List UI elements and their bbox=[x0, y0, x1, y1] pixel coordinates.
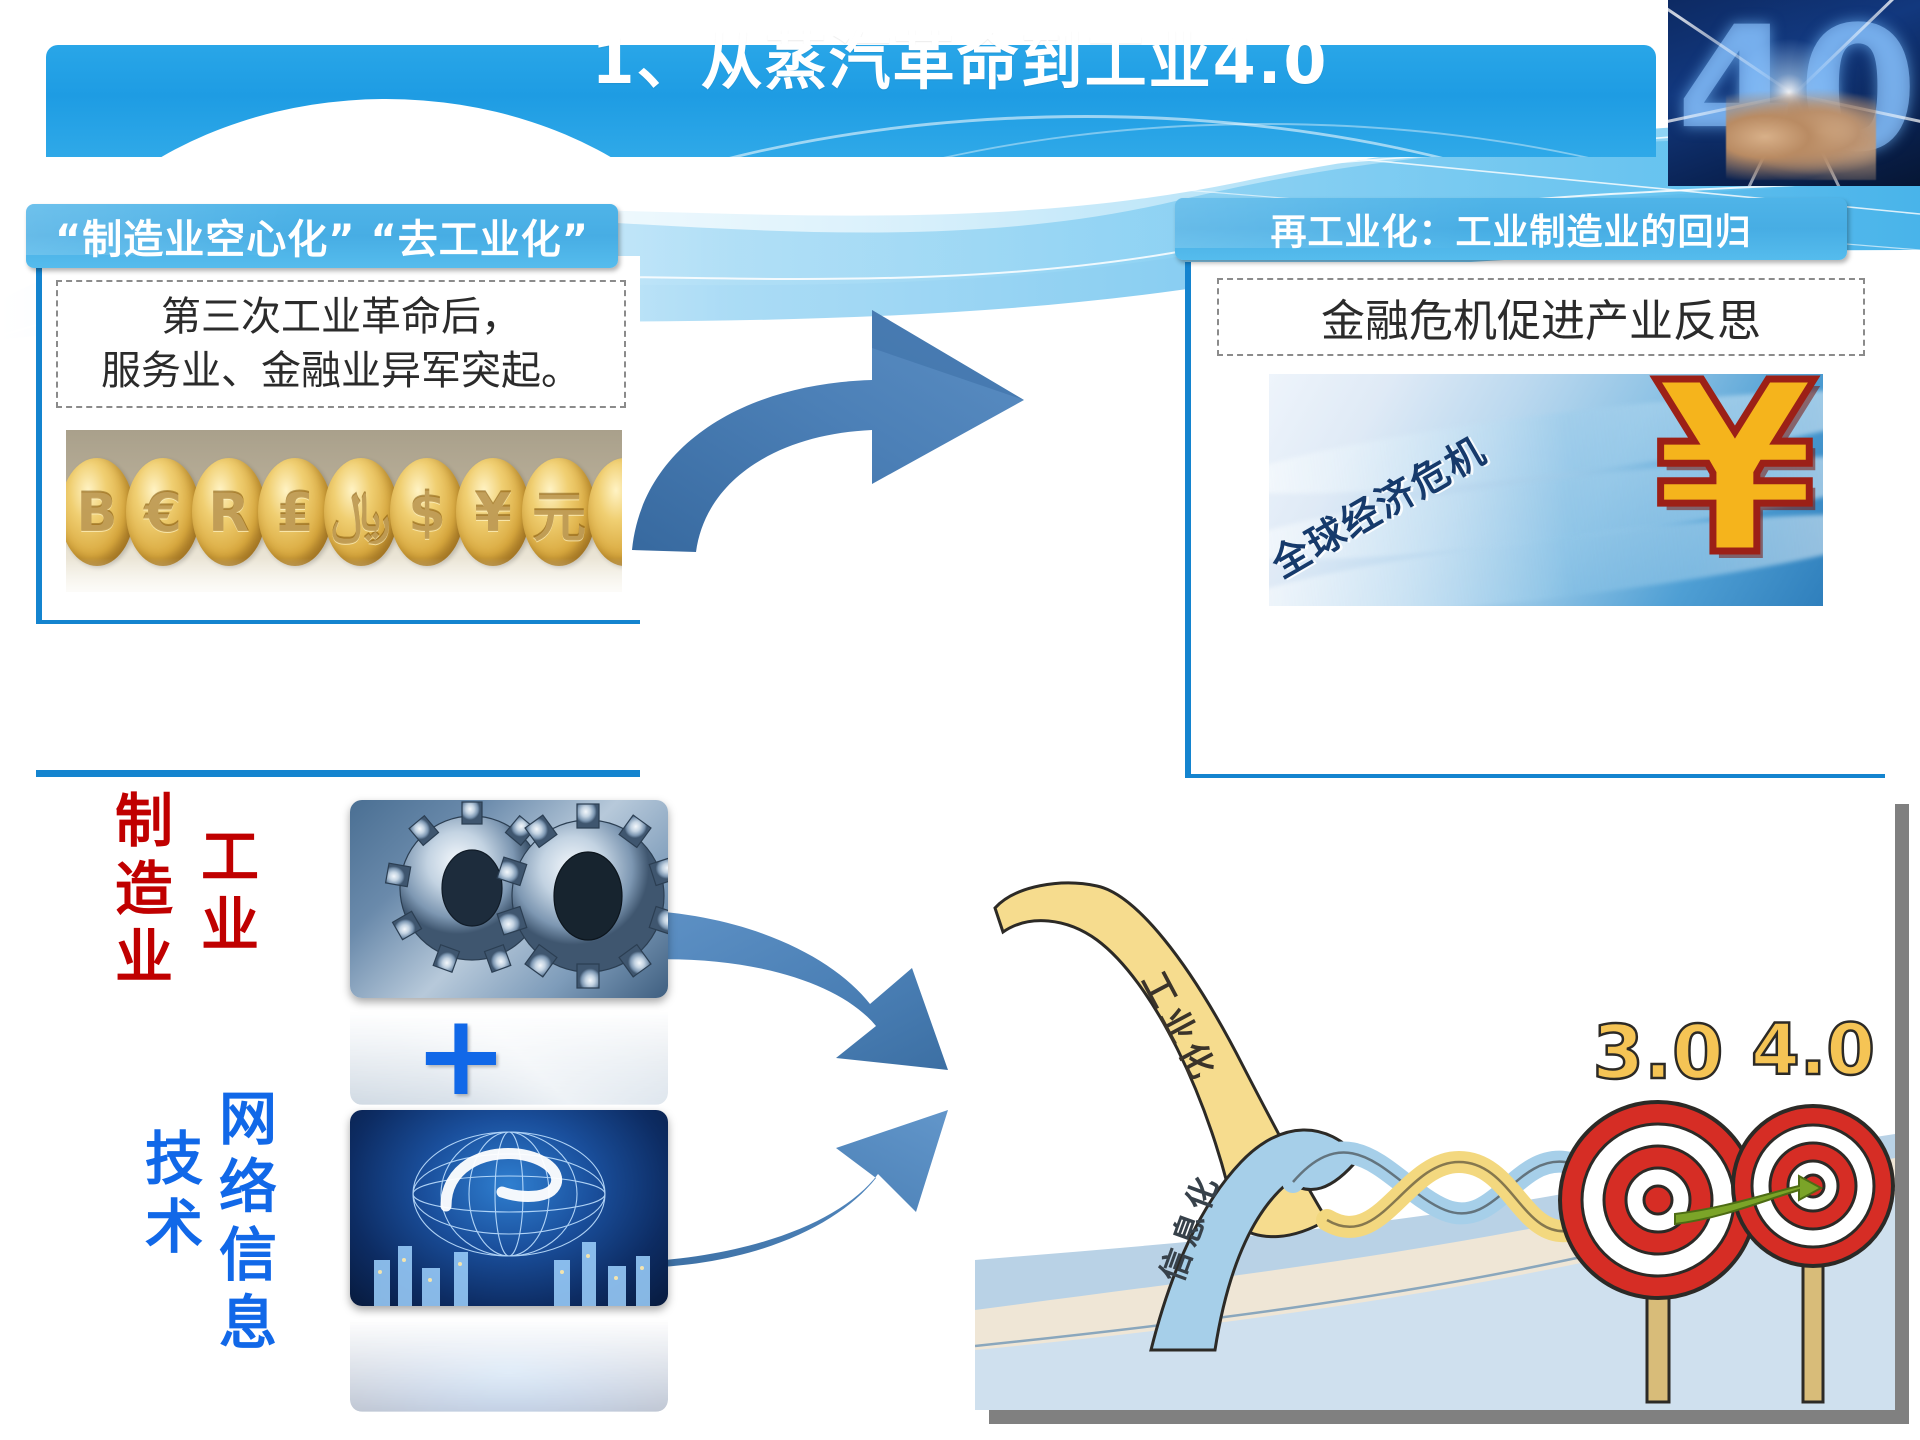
coin-5: ﷼ bbox=[324, 458, 398, 566]
label-technology: 技术 bbox=[140, 1128, 198, 1264]
right-panel-description-box: 金融危机促进产业反思 bbox=[1217, 278, 1865, 356]
right-description-label: 金融危机促进产业反思 bbox=[1321, 285, 1761, 349]
plus-sign: + bbox=[414, 1000, 508, 1112]
slide-canvas: 1、从蒸汽革命到工业4.0 4 0 “制造业空心化” “去工业化” 第三次工业革… bbox=[0, 0, 1920, 1440]
page-title: 1、从蒸汽革命到工业4.0 bbox=[0, 0, 1920, 112]
yen-symbol-icon: ¥ bbox=[1653, 378, 1817, 562]
gold-coins-image: B € R ₤ ﷼ $ ¥ 元 bbox=[66, 430, 622, 592]
gears-image-reflection bbox=[350, 998, 668, 1105]
svg-text:4.0: 4.0 bbox=[1751, 1009, 1875, 1091]
arrow-network-to-cartoon-icon bbox=[630, 1090, 990, 1280]
label-manufacturing: 制造业 bbox=[110, 790, 168, 994]
arrow-gears-to-cartoon-icon bbox=[630, 900, 990, 1080]
right-panel-header-label: 再工业化：工业制造业的回归 bbox=[1270, 203, 1751, 255]
coins-table-glare bbox=[66, 558, 622, 592]
left-panel-description-box: 第三次工业革命后， 服务业、金融业异军突起。 bbox=[56, 280, 626, 408]
industry-evolution-cartoon: 工业化 信息化 3.0 bbox=[975, 790, 1895, 1410]
coin-4: ₤ bbox=[258, 458, 332, 566]
label-industry: 工业 bbox=[196, 826, 254, 962]
coin-3: R bbox=[192, 458, 266, 566]
gears-photo bbox=[350, 800, 668, 998]
right-panel-header: 再工业化：工业制造业的回归 bbox=[1175, 198, 1847, 260]
economic-crisis-image: ¥ 全球经济危机 bbox=[1269, 374, 1823, 606]
globe-network-icon bbox=[350, 1110, 668, 1306]
left-description-line-2: 服务业、金融业异军突起。 bbox=[101, 344, 581, 398]
coin-8: 元 bbox=[522, 458, 596, 566]
gear-icon bbox=[350, 800, 668, 998]
people-silhouette bbox=[1726, 84, 1876, 180]
cartoon-canvas: 工业化 信息化 3.0 bbox=[975, 790, 1895, 1410]
left-description-line-1: 第三次工业革命后， bbox=[101, 290, 581, 344]
right-panel: 再工业化：工业制造业的回归 金融危机促进产业反思 ¥ 全球经济危机 bbox=[1185, 262, 1885, 778]
industry-4-0-photo: 4 0 bbox=[1668, 0, 1920, 186]
coin-1: B bbox=[66, 458, 134, 566]
coin-7: ¥ bbox=[456, 458, 530, 566]
gears-reflection-surface bbox=[350, 998, 668, 1105]
svg-text:3.0: 3.0 bbox=[1592, 1010, 1723, 1096]
left-panel-header-label: “制造业空心化” “去工业化” bbox=[55, 207, 589, 265]
left-panel: “制造业空心化” “去工业化” 第三次工业革命后， 服务业、金融业异军突起。 B… bbox=[36, 256, 640, 624]
left-panel-divider bbox=[36, 770, 640, 777]
coin-6: $ bbox=[390, 458, 464, 566]
global-network-image bbox=[350, 1110, 668, 1306]
network-image-reflection bbox=[350, 1306, 668, 1412]
network-image-container bbox=[350, 1110, 668, 1306]
label-network-info: 网络信息 bbox=[214, 1088, 272, 1360]
left-panel-header: “制造业空心化” “去工业化” bbox=[26, 204, 618, 268]
network-photo bbox=[350, 1110, 668, 1306]
gears-image-container bbox=[350, 800, 668, 998]
industrial-gears-image bbox=[350, 800, 668, 998]
coin-2: € bbox=[126, 458, 200, 566]
coin-9 bbox=[588, 458, 622, 566]
arrow-left-to-right-icon bbox=[620, 288, 1180, 558]
network-reflection-surface bbox=[350, 1306, 668, 1412]
